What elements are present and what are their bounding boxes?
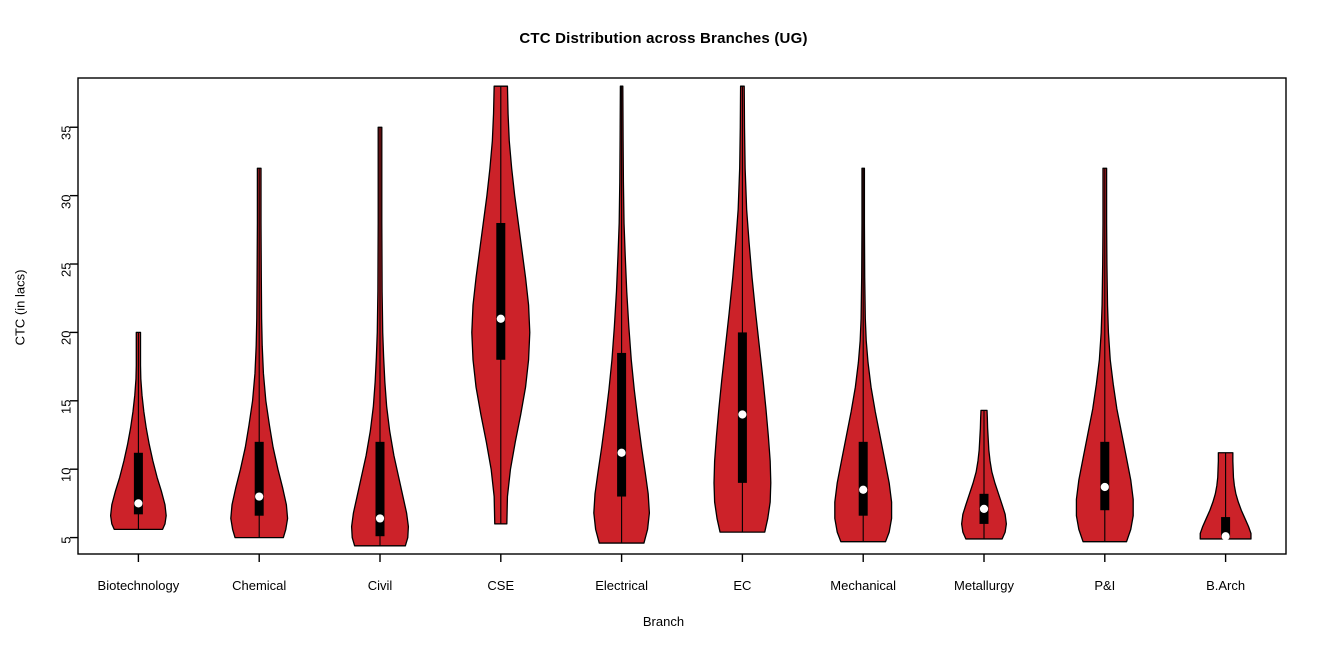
- median-marker: [859, 486, 867, 494]
- violin-chemical: [231, 168, 288, 537]
- x-tick-label-b-arch: B.Arch: [1146, 578, 1306, 593]
- y-tick-label: 20: [59, 331, 74, 365]
- median-marker: [255, 492, 263, 500]
- y-tick-label: 10: [59, 468, 74, 502]
- violin-cse: [472, 86, 530, 524]
- violin-biotechnology: [111, 332, 167, 529]
- median-marker: [738, 410, 746, 418]
- y-tick-label: 35: [59, 126, 74, 160]
- median-marker: [980, 505, 988, 513]
- violin-chart: CTC Distribution across Branches (UG) CT…: [0, 0, 1327, 653]
- iqr-box: [617, 353, 626, 497]
- violin-civil: [352, 127, 409, 546]
- iqr-box: [255, 442, 264, 516]
- median-marker: [497, 315, 505, 323]
- median-marker: [134, 499, 142, 507]
- violin-electrical: [594, 86, 650, 543]
- median-marker: [1222, 532, 1230, 540]
- y-tick-label: 5: [59, 536, 74, 570]
- y-tick-label: 30: [59, 194, 74, 228]
- median-marker: [618, 449, 626, 457]
- violin-metallurgy: [962, 410, 1007, 539]
- y-tick-label: 25: [59, 263, 74, 297]
- median-marker: [376, 514, 384, 522]
- iqr-box: [738, 332, 747, 482]
- plot-area: [0, 0, 1327, 653]
- y-tick-label: 15: [59, 399, 74, 433]
- violin-b-arch: [1200, 453, 1251, 541]
- violin-ec: [714, 86, 771, 532]
- iqr-box: [859, 442, 868, 516]
- violin-mechanical: [835, 168, 892, 541]
- iqr-box: [496, 223, 505, 360]
- median-marker: [1101, 483, 1109, 491]
- iqr-box: [1100, 442, 1109, 510]
- violin-p-i: [1076, 168, 1133, 541]
